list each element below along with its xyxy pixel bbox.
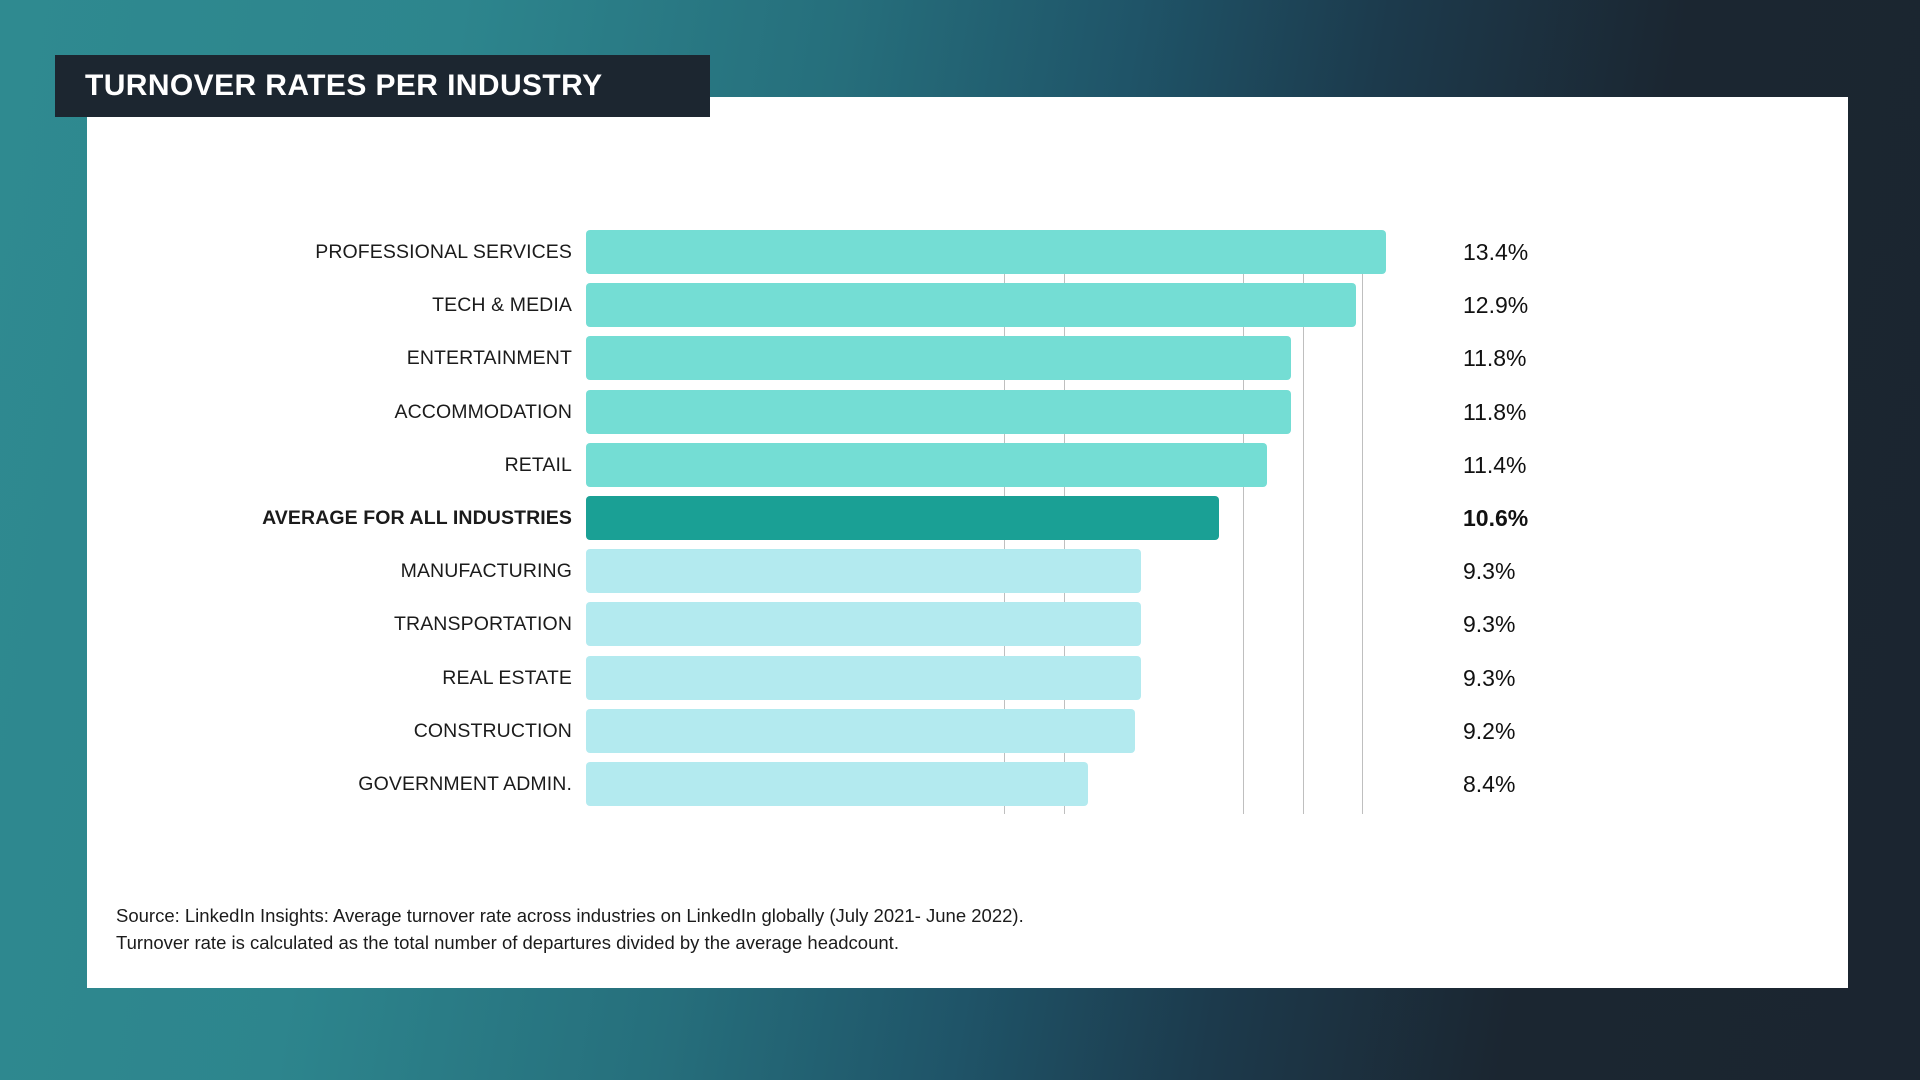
category-label: CONSTRUCTION (414, 709, 572, 753)
bar (586, 390, 1291, 434)
category-label: PROFESSIONAL SERVICES (315, 230, 572, 274)
plot-area: PROFESSIONAL SERVICES13.4%TECH & MEDIA12… (586, 230, 1452, 814)
bar-row: AVERAGE FOR ALL INDUSTRIES10.6% (586, 496, 1452, 540)
bar (586, 283, 1356, 327)
bar (586, 496, 1219, 540)
bar-chart: PROFESSIONAL SERVICES13.4%TECH & MEDIA12… (87, 97, 1848, 988)
value-label: 11.8% (1463, 336, 1527, 380)
bar-row: RETAIL11.4% (586, 443, 1452, 487)
bar-row: ACCOMMODATION11.8% (586, 390, 1452, 434)
bar-row: ENTERTAINMENT11.8% (586, 336, 1452, 380)
category-label: MANUFACTURING (401, 549, 572, 593)
bar (586, 602, 1141, 646)
bar-row: REAL ESTATE9.3% (586, 656, 1452, 700)
bar (586, 443, 1267, 487)
category-label: GOVERNMENT ADMIN. (358, 762, 572, 806)
bar (586, 336, 1291, 380)
page-title: TURNOVER RATES PER INDUSTRY (55, 69, 603, 103)
bar (586, 762, 1088, 806)
bar (586, 549, 1141, 593)
bar-row: GOVERNMENT ADMIN.8.4% (586, 762, 1452, 806)
bar-row: TECH & MEDIA12.9% (586, 283, 1452, 327)
bar (586, 709, 1135, 753)
source-line-2: Turnover rate is calculated as the total… (116, 929, 1024, 956)
value-label: 13.4% (1463, 230, 1528, 274)
value-label: 9.3% (1463, 549, 1515, 593)
bar-row: MANUFACTURING9.3% (586, 549, 1452, 593)
category-label: ACCOMMODATION (394, 390, 572, 434)
bar-row: PROFESSIONAL SERVICES13.4% (586, 230, 1452, 274)
value-label: 11.4% (1463, 443, 1527, 487)
source-line-1: Source: LinkedIn Insights: Average turno… (116, 902, 1024, 929)
category-label: TECH & MEDIA (432, 283, 572, 327)
bar-row: CONSTRUCTION9.2% (586, 709, 1452, 753)
category-label: RETAIL (505, 443, 572, 487)
value-label: 9.3% (1463, 656, 1515, 700)
value-label: 9.2% (1463, 709, 1515, 753)
category-label: REAL ESTATE (442, 656, 572, 700)
bar-row: TRANSPORTATION9.3% (586, 602, 1452, 646)
chart-card: PROFESSIONAL SERVICES13.4%TECH & MEDIA12… (87, 97, 1848, 988)
category-label: AVERAGE FOR ALL INDUSTRIES (262, 496, 572, 540)
chart-title-banner: TURNOVER RATES PER INDUSTRY (55, 55, 710, 117)
bar (586, 656, 1141, 700)
value-label: 9.3% (1463, 602, 1515, 646)
value-label: 10.6% (1463, 496, 1528, 540)
value-label: 8.4% (1463, 762, 1515, 806)
category-label: ENTERTAINMENT (407, 336, 572, 380)
value-label: 11.8% (1463, 390, 1527, 434)
bar (586, 230, 1386, 274)
source-note: Source: LinkedIn Insights: Average turno… (116, 902, 1024, 956)
category-label: TRANSPORTATION (394, 602, 572, 646)
value-label: 12.9% (1463, 283, 1528, 327)
